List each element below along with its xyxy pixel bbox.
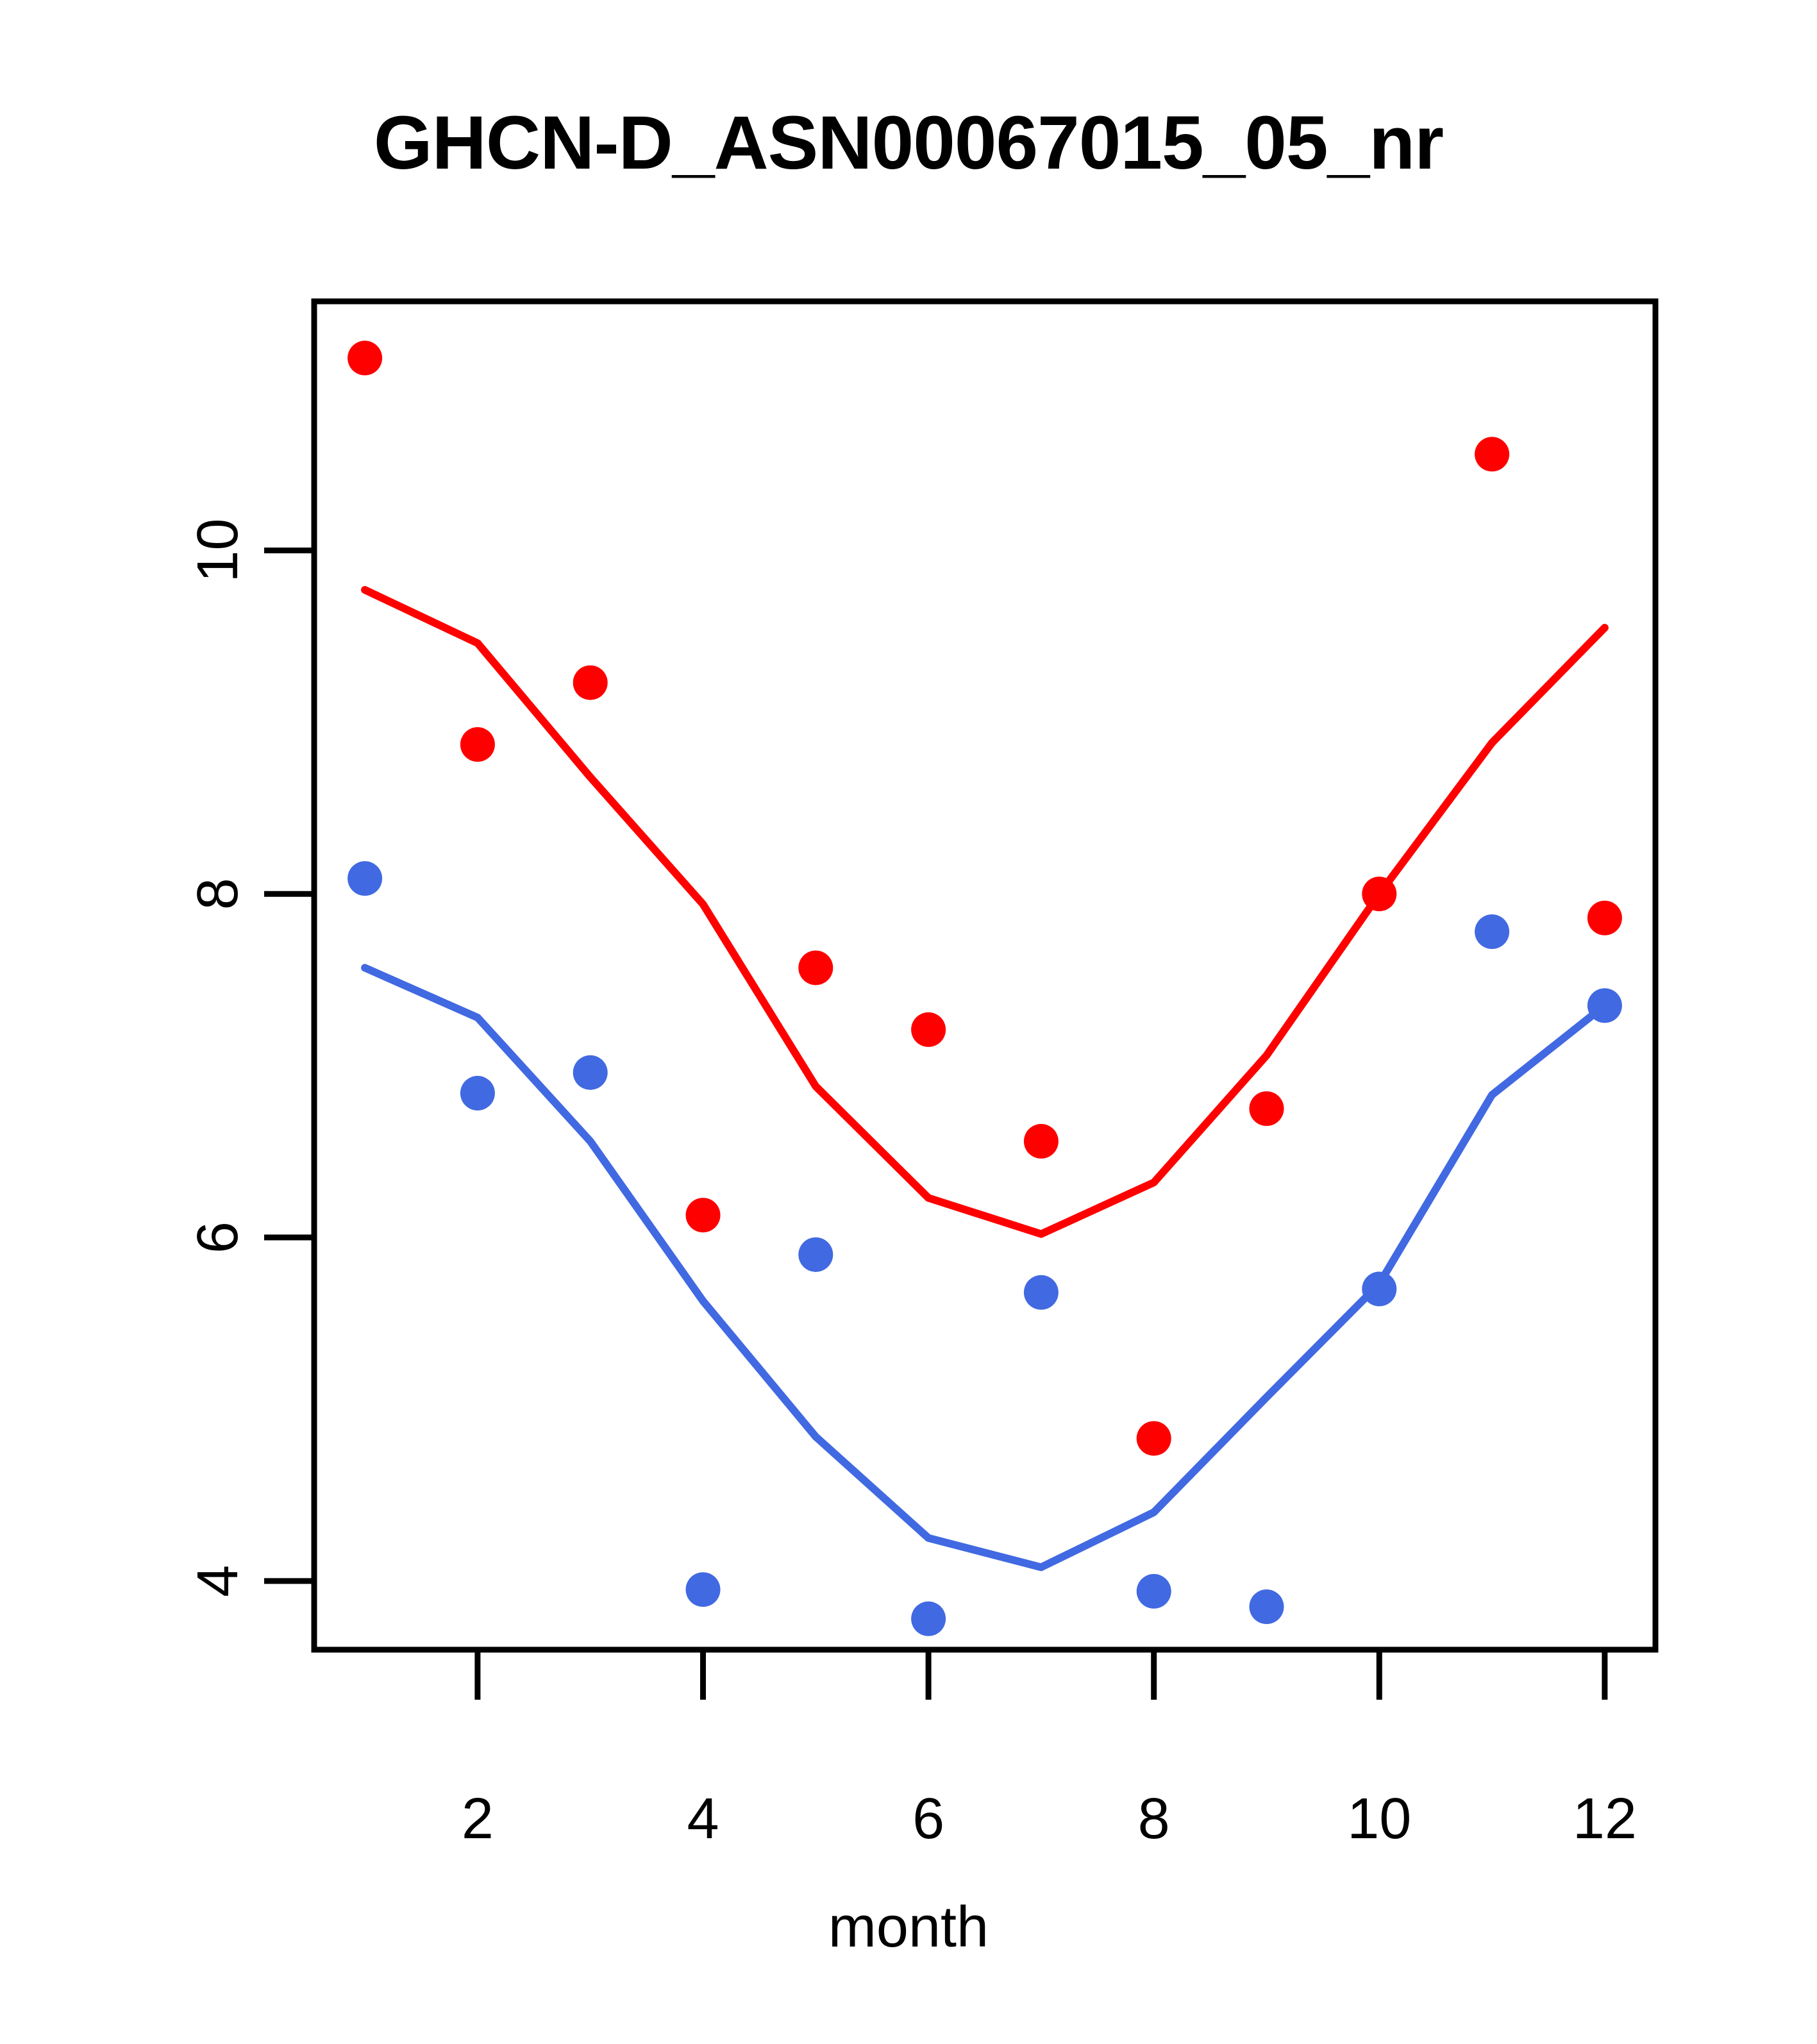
data-point: [1475, 914, 1509, 949]
x-axis-tick-label: 10: [1347, 1787, 1411, 1851]
data-point: [460, 727, 495, 762]
data-point: [347, 340, 382, 375]
data-point: [460, 1076, 495, 1110]
data-point: [798, 1237, 833, 1272]
x-axis-tick-label: 12: [1573, 1787, 1637, 1851]
x-axis-tick-label: 8: [1138, 1787, 1170, 1851]
points-layer: [347, 340, 1622, 1636]
data-point: [1362, 1271, 1396, 1306]
x-axis-title: month: [0, 1895, 1817, 1961]
data-point: [573, 1055, 608, 1090]
data-point: [1362, 876, 1396, 911]
data-point: [1137, 1421, 1171, 1455]
plot-root: GHCN-D_ASN00067015_05_nr 4681024681012 m…: [0, 0, 1817, 2044]
data-point: [911, 1012, 946, 1047]
data-point: [686, 1572, 721, 1607]
data-point: [347, 861, 382, 896]
data-point: [798, 950, 833, 985]
data-point: [911, 1602, 946, 1636]
series-line-red-line: [365, 590, 1605, 1234]
y-axis-tick-label: 4: [186, 1565, 250, 1597]
data-point: [1024, 1275, 1059, 1310]
data-point: [1024, 1124, 1059, 1159]
axes-layer: [264, 301, 1655, 1700]
x-axis-tick-label: 6: [912, 1787, 944, 1851]
x-axis-tick-label: 2: [462, 1787, 494, 1851]
data-point: [573, 666, 608, 700]
series-line-blue-line: [365, 968, 1605, 1567]
lines-layer: [365, 590, 1605, 1567]
data-point: [1249, 1091, 1284, 1126]
data-point: [1587, 988, 1622, 1023]
data-point: [1587, 901, 1622, 935]
y-axis-tick-label: 10: [186, 518, 250, 582]
plot-frame: [314, 301, 1655, 1650]
data-point: [686, 1198, 721, 1232]
data-point: [1475, 437, 1509, 471]
y-axis-tick-label: 8: [186, 878, 250, 910]
y-axis-tick-label: 6: [186, 1221, 250, 1253]
data-point: [1249, 1589, 1284, 1624]
data-point: [1137, 1574, 1171, 1609]
chart-canvas: 4681024681012: [0, 0, 1817, 2044]
x-axis-tick-label: 4: [687, 1787, 719, 1851]
